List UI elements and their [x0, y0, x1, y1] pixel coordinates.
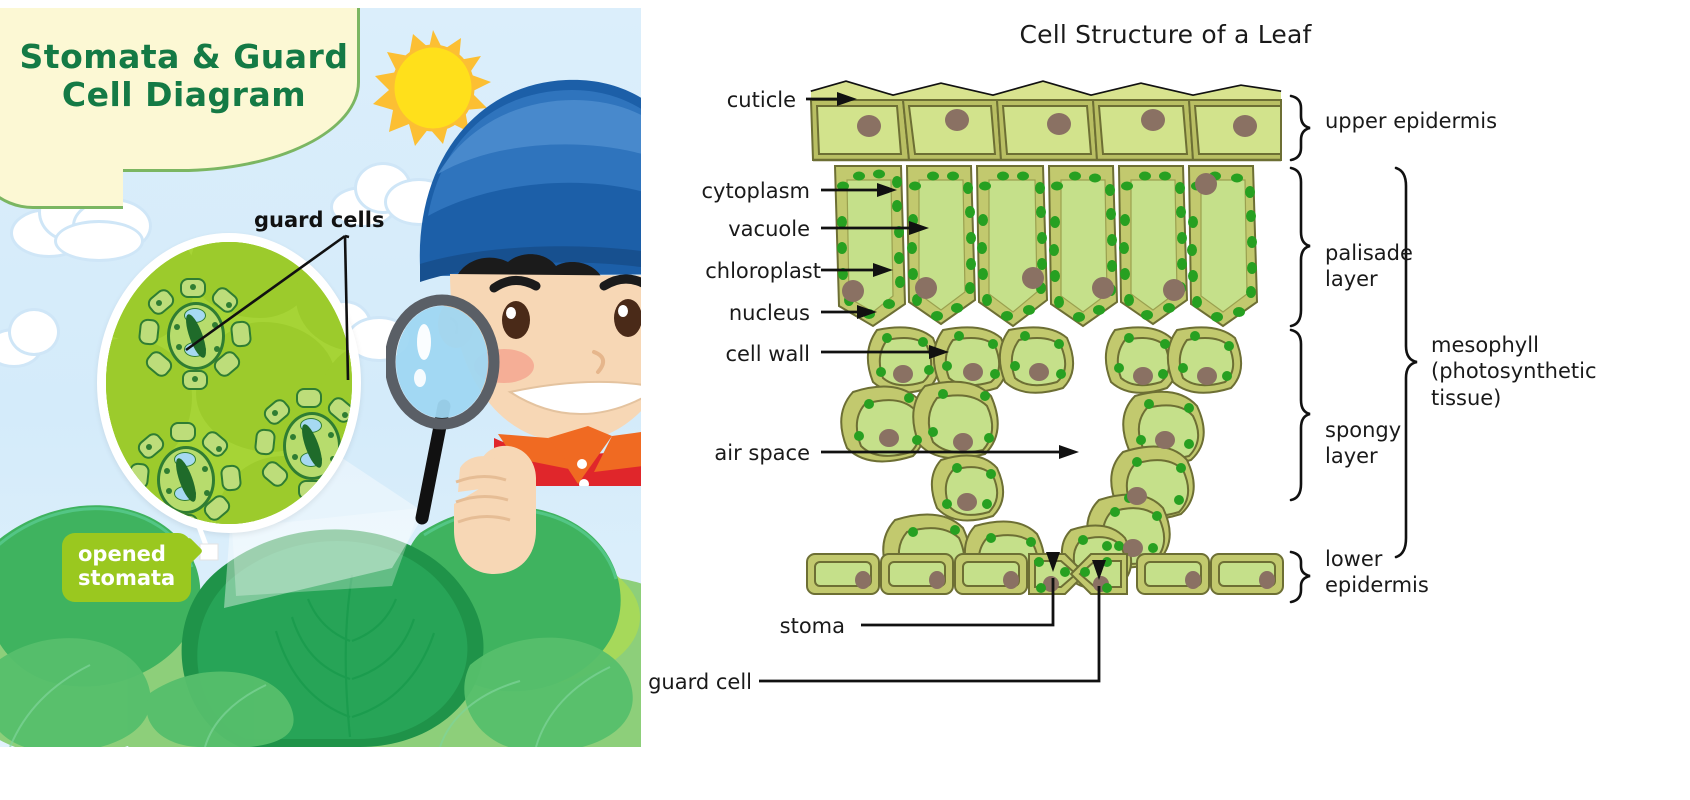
mesophyll-line-3: tissue) — [1431, 385, 1597, 411]
mesophyll-line-1: mesophyll — [1431, 332, 1597, 358]
spongy-line-1: spongy — [1325, 417, 1401, 443]
palisade-line-1: palisade — [1325, 240, 1413, 266]
upper-epidermis-line-1: upper epidermis — [1325, 109, 1497, 133]
label-spongy-layer: spongy layer — [1325, 417, 1401, 470]
illustration-page: Stomata & Guard Cell Diagram — [0, 0, 1690, 800]
label-cuticle: cuticle — [727, 87, 796, 113]
page-title: Stomata & Guard Cell Diagram — [14, 38, 354, 114]
label-chloroplast: chloroplast — [705, 258, 821, 284]
lower-epidermis-cells — [807, 554, 1283, 594]
mesophyll-line-2: (photosynthetic — [1431, 358, 1597, 384]
lower-epidermis-line-1: lower — [1325, 546, 1429, 572]
guard-cells-label: guard cells — [254, 208, 384, 232]
stoma-cell-group — [140, 280, 252, 392]
label-cytoplasm: cytoplasm — [702, 178, 811, 204]
palisade-line-2: layer — [1325, 266, 1413, 292]
title-line-1: Stomata & Guard — [14, 38, 354, 76]
label-upper-epidermis: upper epidermis — [1325, 108, 1497, 134]
title-line-2: Cell Diagram — [14, 76, 354, 114]
palisade-layer-cells — [835, 166, 1257, 326]
leaf-cell-structure-diagram: Cell Structure of a Leaf — [641, 0, 1690, 800]
label-lower-epidermis: lower epidermis — [1325, 546, 1429, 599]
opened-stomata-tag: opened stomata — [62, 533, 191, 602]
stoma-cell-group — [130, 424, 242, 533]
spongy-layer-cells — [841, 327, 1241, 590]
label-stoma: stoma — [780, 613, 845, 639]
leader-arrowheads — [837, 92, 1106, 580]
label-mesophyll: mesophyll (photosynthetic tissue) — [1431, 332, 1597, 411]
leader-lines — [759, 99, 1099, 681]
zoom-lens-stomata — [97, 233, 361, 533]
lower-epidermis-line-2: epidermis — [1325, 572, 1429, 598]
label-guard-cell: guard cell — [648, 669, 752, 695]
label-vacuole: vacuole — [728, 216, 810, 242]
boy-arm — [398, 408, 641, 608]
stomata-guard-cell-illustration: Stomata & Guard Cell Diagram — [0, 8, 641, 747]
label-palisade-layer: palisade layer — [1325, 240, 1413, 293]
opened-stomata-line-1: opened — [78, 543, 175, 567]
label-nucleus: nucleus — [729, 300, 810, 326]
label-air-space: air space — [714, 440, 810, 466]
stoma-cell-group — [256, 390, 361, 502]
layer-brackets — [1291, 96, 1417, 602]
upper-epidermis-cells — [811, 82, 1281, 160]
label-cell-wall: cell wall — [725, 341, 810, 367]
spongy-line-2: layer — [1325, 443, 1401, 469]
opened-stomata-line-2: stomata — [78, 567, 175, 591]
diagram-title: Cell Structure of a Leaf — [641, 20, 1690, 49]
cloud-icon — [0, 308, 76, 368]
